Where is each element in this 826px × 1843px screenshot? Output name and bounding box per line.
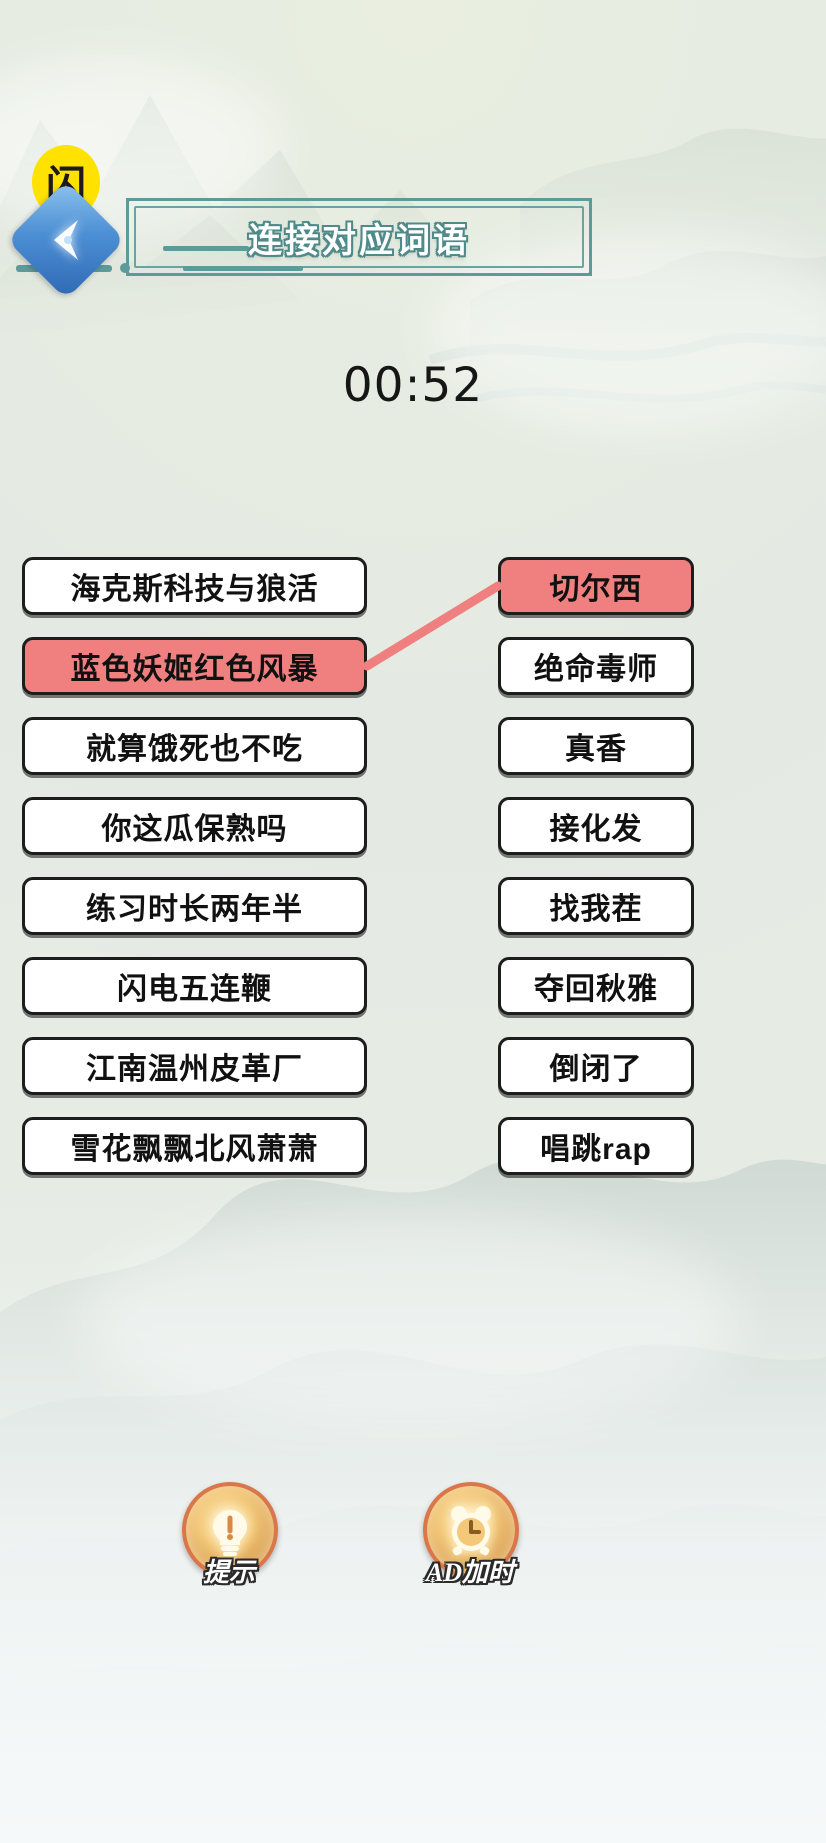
right-card[interactable]: 找我茬 [498,877,694,935]
left-column: 海克斯科技与狼活蓝色妖姬红色风暴就算饿死也不吃你这瓜保熟吗练习时长两年半闪电五连… [22,557,367,1197]
left-card-label: 江南温州皮革厂 [86,1044,303,1088]
right-card-label: 切尔西 [550,564,643,608]
countdown-timer: 00:52 [0,358,826,413]
right-column: 切尔西绝命毒师真香接化发找我茬夺回秋雅倒闭了唱跳rap [498,557,694,1197]
right-card-label: 找我茬 [550,884,643,928]
right-card-label: 唱跳rap [540,1124,652,1168]
right-card[interactable]: 倒闭了 [498,1037,694,1095]
right-card[interactable]: 夺回秋雅 [498,957,694,1015]
left-card-label: 你这瓜保熟吗 [102,804,288,848]
ad-extend-time-button-label: AD加时 [423,1552,517,1589]
right-card-label: 绝命毒师 [534,644,658,688]
plaque-decoration [163,246,249,251]
left-card-label: 海克斯科技与狼活 [71,564,319,608]
left-card[interactable]: 练习时长两年半 [22,877,367,935]
left-card[interactable]: 雪花飘飘北风萧萧 [22,1117,367,1175]
left-card-label: 闪电五连鞭 [117,964,272,1008]
left-card[interactable]: 蓝色妖姬红色风暴 [22,637,367,695]
ad-extend-time-button[interactable]: AD加时 [423,1482,517,1589]
app-logo-badge[interactable]: 闪 [16,145,126,290]
connection-line [367,586,498,666]
right-card[interactable]: 唱跳rap [498,1117,694,1175]
page-title: 连接对应词语 [129,201,589,273]
plaque-decoration [183,266,303,271]
left-card-label: 就算饿死也不吃 [86,724,303,768]
right-card-label: 夺回秋雅 [534,964,658,1008]
left-card[interactable]: 海克斯科技与狼活 [22,557,367,615]
right-card[interactable]: 绝命毒师 [498,637,694,695]
left-card-label: 蓝色妖姬红色风暴 [71,644,319,688]
right-card[interactable]: 接化发 [498,797,694,855]
left-card-label: 练习时长两年半 [86,884,303,928]
right-card-label: 真香 [565,724,627,768]
hint-button[interactable]: 提示 [182,1482,276,1589]
right-card-label: 倒闭了 [550,1044,643,1088]
left-card[interactable]: 江南温州皮革厂 [22,1037,367,1095]
page-title-plaque: 连接对应词语 [126,198,592,276]
left-card-label: 雪花飘飘北风萧萧 [71,1124,319,1168]
hint-button-label: 提示 [182,1552,276,1589]
right-card-label: 接化发 [550,804,643,848]
left-card[interactable]: 你这瓜保熟吗 [22,797,367,855]
right-card[interactable]: 真香 [498,717,694,775]
gem-arrow-icon [34,208,98,272]
right-card[interactable]: 切尔西 [498,557,694,615]
left-card[interactable]: 就算饿死也不吃 [22,717,367,775]
left-card[interactable]: 闪电五连鞭 [22,957,367,1015]
